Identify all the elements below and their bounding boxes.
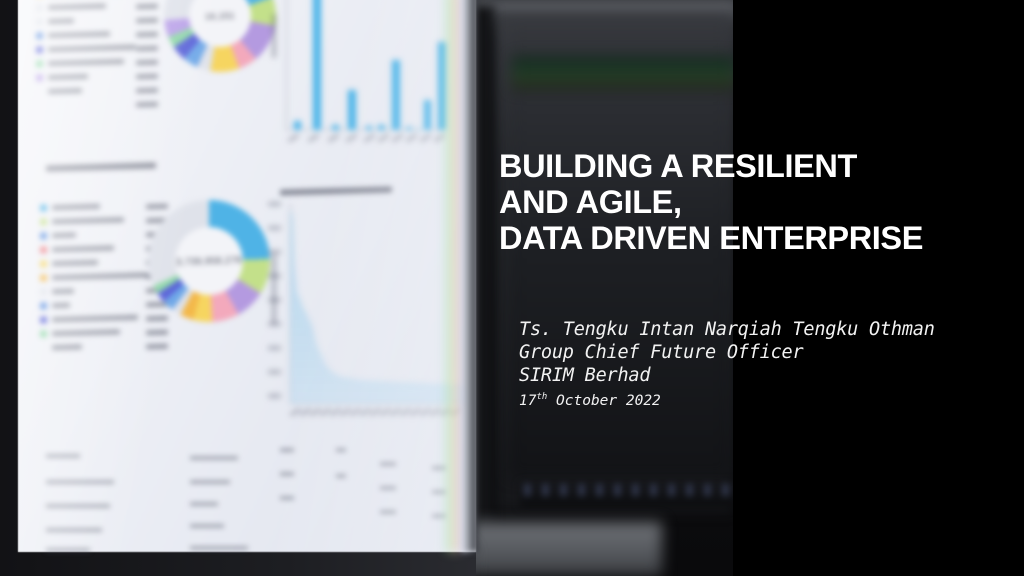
- presenter-byline: Ts. Tengku Intan Narqiah Tengku Othman G…: [519, 318, 1019, 412]
- presenter-role: Group Chief Future Officer: [519, 341, 1019, 364]
- title-line-1: BUILDING A RESILIENT: [499, 148, 1019, 184]
- date-rest: October 2022: [547, 393, 661, 409]
- date-ordinal: th: [536, 392, 547, 402]
- presenter-organisation: SIRIM Berhad: [519, 364, 1019, 387]
- presenter-name: Ts. Tengku Intan Narqiah Tengku Othman: [519, 318, 1019, 341]
- date-day: 17: [519, 393, 536, 409]
- presentation-date: 17th October 2022: [519, 387, 1019, 412]
- title-line-2: AND AGILE,: [499, 184, 1019, 220]
- slide-content: BUILDING A RESILIENT AND AGILE, DATA DRI…: [0, 0, 1024, 576]
- title-line-3: DATA DRIVEN ENTERPRISE: [499, 220, 1019, 256]
- slide-title: BUILDING A RESILIENT AND AGILE, DATA DRI…: [499, 148, 1019, 256]
- presentation-slide: 16,151: [0, 0, 1024, 576]
